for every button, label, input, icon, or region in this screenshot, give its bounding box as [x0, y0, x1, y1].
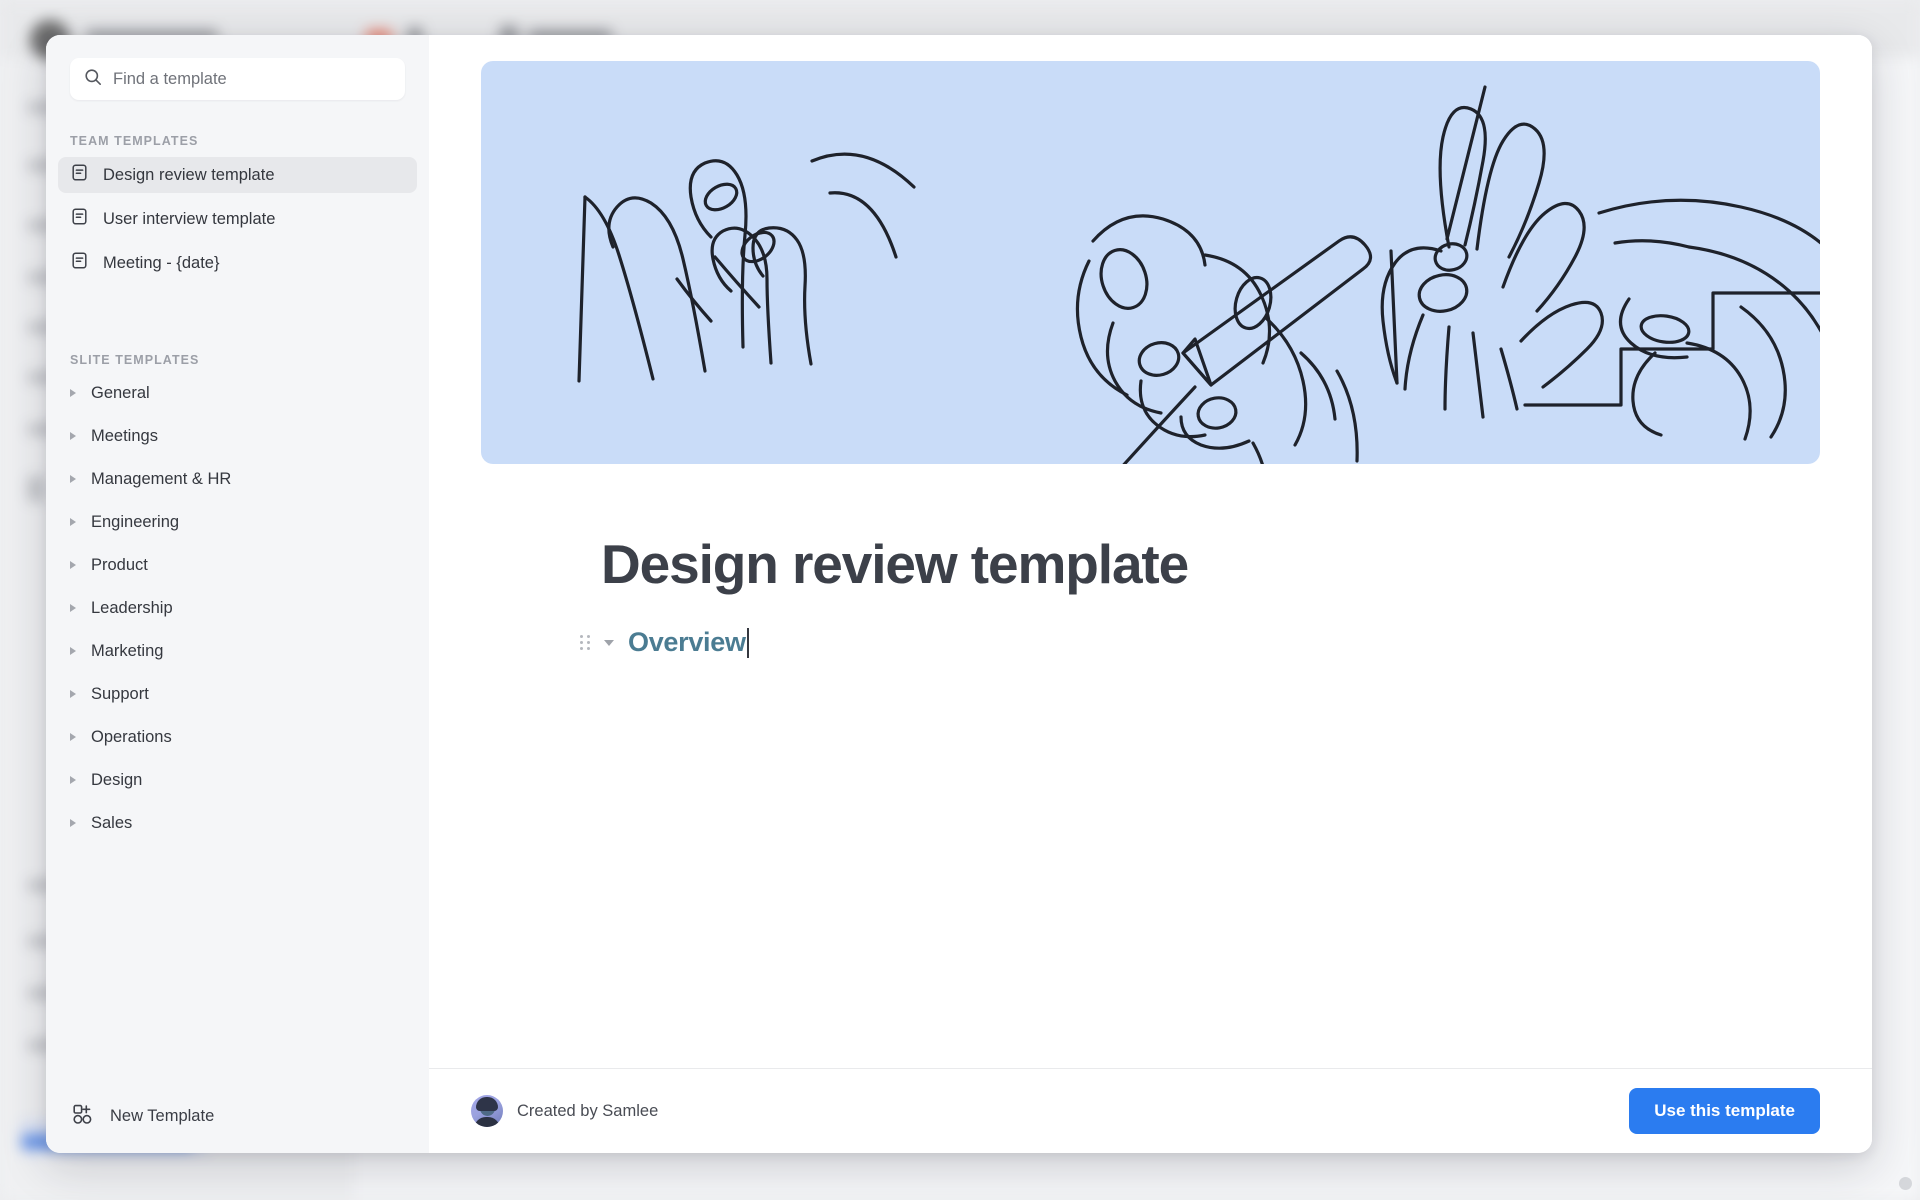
preview-footer: Created by Samlee Use this template: [429, 1068, 1872, 1153]
chevron-right-icon: [70, 518, 76, 526]
template-preview-pane: Design review template Overview Created …: [429, 35, 1872, 1153]
document-icon: [70, 251, 89, 275]
category-label: Meetings: [91, 427, 158, 446]
text-cursor: [747, 628, 749, 658]
slite-templates-list: General Meetings Management & HR Enginee…: [46, 378, 429, 851]
template-item-user-interview[interactable]: User interview template: [58, 201, 417, 237]
search-input[interactable]: [113, 70, 391, 89]
chevron-right-icon: [70, 389, 76, 397]
chevron-right-icon: [70, 604, 76, 612]
chevron-right-icon: [70, 432, 76, 440]
template-picker-modal: TEAM TEMPLATES Design review template: [46, 35, 1872, 1153]
search-box[interactable]: [70, 58, 405, 100]
use-this-template-button[interactable]: Use this template: [1629, 1088, 1820, 1134]
template-item-label: Design review template: [103, 166, 275, 185]
new-template-button[interactable]: New Template: [46, 1079, 429, 1153]
document-title: Design review template: [601, 532, 1872, 596]
document-scroll-area[interactable]: Design review template Overview: [429, 35, 1872, 1068]
document-icon: [70, 207, 89, 231]
section-title-slite-templates: SLITE TEMPLATES: [46, 353, 429, 367]
document-icon: [70, 163, 89, 187]
document-cover-image: [481, 61, 1820, 464]
search-icon: [84, 68, 102, 91]
category-label: Operations: [91, 728, 172, 747]
category-item-management-hr[interactable]: Management & HR: [58, 464, 417, 494]
category-label: Leadership: [91, 599, 173, 618]
avatar: [471, 1095, 503, 1127]
background-sidebar-row: [28, 476, 44, 502]
category-label: Management & HR: [91, 470, 231, 489]
template-item-meeting-date[interactable]: Meeting - {date}: [58, 245, 417, 281]
category-label: Sales: [91, 814, 132, 833]
category-label: Support: [91, 685, 149, 704]
section-title-team-templates: TEAM TEMPLATES: [46, 134, 429, 148]
template-item-label: User interview template: [103, 210, 275, 229]
search-container: [46, 35, 429, 100]
chevron-right-icon: [70, 819, 76, 827]
add-shapes-icon: [72, 1103, 94, 1130]
category-item-operations[interactable]: Operations: [58, 722, 417, 752]
category-item-sales[interactable]: Sales: [58, 808, 417, 838]
category-item-marketing[interactable]: Marketing: [58, 636, 417, 666]
category-label: General: [91, 384, 150, 403]
category-label: Design: [91, 771, 142, 790]
drag-dots-icon[interactable]: [577, 635, 593, 651]
chevron-right-icon: [70, 475, 76, 483]
sidebar-spacer: [46, 851, 429, 1079]
template-author: Created by Samlee: [471, 1095, 658, 1127]
heading-overview[interactable]: Overview: [628, 627, 746, 658]
team-templates-list: Design review template User interview te…: [46, 157, 429, 289]
template-sidebar: TEAM TEMPLATES Design review template: [46, 35, 429, 1153]
template-item-label: Meeting - {date}: [103, 254, 220, 273]
category-item-meetings[interactable]: Meetings: [58, 421, 417, 451]
chevron-right-icon: [70, 690, 76, 698]
chevron-right-icon: [70, 733, 76, 741]
author-label: Created by Samlee: [517, 1102, 658, 1121]
page-scroll-indicator: [1899, 1177, 1912, 1190]
document-block-heading: Overview: [577, 627, 1872, 658]
new-template-label: New Template: [110, 1107, 214, 1126]
chevron-right-icon: [70, 776, 76, 784]
category-item-leadership[interactable]: Leadership: [58, 593, 417, 623]
template-item-design-review[interactable]: Design review template: [58, 157, 417, 193]
chevron-right-icon: [70, 647, 76, 655]
category-label: Marketing: [91, 642, 163, 661]
category-item-engineering[interactable]: Engineering: [58, 507, 417, 537]
category-label: Product: [91, 556, 148, 575]
chevron-down-icon[interactable]: [604, 640, 614, 646]
category-item-support[interactable]: Support: [58, 679, 417, 709]
hands-line-art-illustration: [481, 61, 1820, 464]
chevron-right-icon: [70, 561, 76, 569]
category-item-design[interactable]: Design: [58, 765, 417, 795]
category-item-product[interactable]: Product: [58, 550, 417, 580]
category-item-general[interactable]: General: [58, 378, 417, 408]
category-label: Engineering: [91, 513, 179, 532]
